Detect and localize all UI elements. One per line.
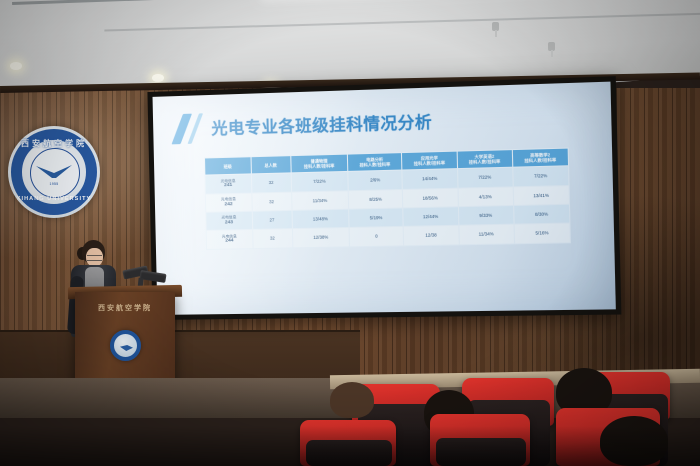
audience-head — [600, 416, 668, 466]
cell-total: 27 — [252, 210, 292, 229]
cell-failure-rate: 11/34% — [458, 225, 514, 245]
cell-class: 光电信息243 — [206, 211, 253, 231]
podium-label: 西安航空学院 — [78, 303, 172, 313]
podium-emblem-icon — [110, 330, 141, 361]
column-header-circuits: 电路分析挂科人数/挂科率 — [347, 153, 402, 172]
emblem-year: 1955 — [41, 182, 67, 186]
seat-back — [306, 440, 392, 466]
cell-failure-rate: 8/30% — [513, 204, 570, 224]
cell-failure-rate: 18/56% — [403, 188, 458, 208]
emblem-en-text: XIHANG UNIVERSITY — [14, 196, 94, 202]
column-header-total: 总人数 — [251, 156, 291, 174]
projection-screen-frame: 光电专业各班级挂科情况分析 班级 总人数 普通物理挂科人数/挂科率 电路分析挂科… — [147, 76, 621, 320]
column-header-class: 班级 — [205, 157, 252, 176]
column-header-optics: 应用光学挂科人数/挂科率 — [402, 151, 457, 170]
cell-failure-rate: 14/44% — [402, 169, 457, 189]
cell-class: 光电信息244 — [206, 230, 253, 249]
cell-total: 32 — [252, 229, 292, 248]
cell-total: 32 — [251, 173, 291, 193]
downlight-icon — [10, 62, 22, 70]
cell-failure-rate: 9/33% — [458, 205, 514, 225]
cell-failure-rate: 7/22% — [291, 172, 349, 192]
ceiling-sensor-icon — [492, 22, 499, 31]
table-body: 光电信息241327/22%2/6%14/44%7/22%7/22%光电信息24… — [205, 166, 570, 249]
cell-failure-rate: 0 — [349, 227, 404, 247]
cell-failure-rate: 13/48% — [292, 209, 350, 229]
glasses-icon — [87, 255, 102, 261]
cell-failure-rate: 7/22% — [457, 167, 513, 187]
ceiling-seam — [12, 0, 652, 5]
cell-failure-rate: 11/34% — [291, 190, 349, 210]
audience-head — [330, 382, 374, 418]
downlight-icon — [152, 74, 164, 82]
ceiling-seam — [104, 12, 700, 31]
cell-failure-rate: 12/38% — [292, 228, 350, 248]
cell-failure-rate: 12/38 — [404, 226, 459, 246]
cell-total: 32 — [251, 192, 291, 212]
cell-failure-rate: 7/22% — [512, 166, 569, 186]
projected-slide: 光电专业各班级挂科情况分析 班级 总人数 普通物理挂科人数/挂科率 电路分析挂科… — [153, 82, 616, 315]
aircraft-emblem-icon — [35, 162, 73, 182]
ceiling-sensor-icon — [548, 42, 555, 51]
slide-title: 光电专业各班级挂科情况分析 — [211, 108, 432, 139]
cell-failure-rate: 5/19% — [349, 208, 404, 228]
cell-failure-rate: 8/25% — [348, 189, 403, 209]
cell-class: 光电信息241 — [205, 174, 252, 194]
university-emblem: 西安航空学院 1955 XIHANG UNIVERSITY — [8, 126, 100, 218]
cell-failure-rate: 12/44% — [403, 207, 458, 227]
cell-failure-rate: 13/41% — [513, 185, 570, 205]
seat-back — [436, 438, 526, 466]
column-header-english: 大学英语2挂科人数/挂科率 — [457, 150, 513, 169]
lecture-hall-photo: 西安航空学院 1955 XIHANG UNIVERSITY 光电专业各班级挂科情… — [0, 0, 700, 466]
cell-failure-rate: 5/16% — [514, 223, 571, 243]
column-header-physics: 普通物理挂科人数/挂科率 — [290, 154, 347, 173]
cell-failure-rate: 4/13% — [457, 186, 513, 206]
column-header-math: 高等数学2挂科人数/挂科率 — [512, 148, 568, 167]
failure-rate-table: 班级 总人数 普通物理挂科人数/挂科率 电路分析挂科人数/挂科率 应用光学挂科人… — [204, 148, 571, 250]
cell-class: 光电信息242 — [205, 193, 252, 213]
cell-failure-rate: 2/6% — [348, 170, 403, 190]
